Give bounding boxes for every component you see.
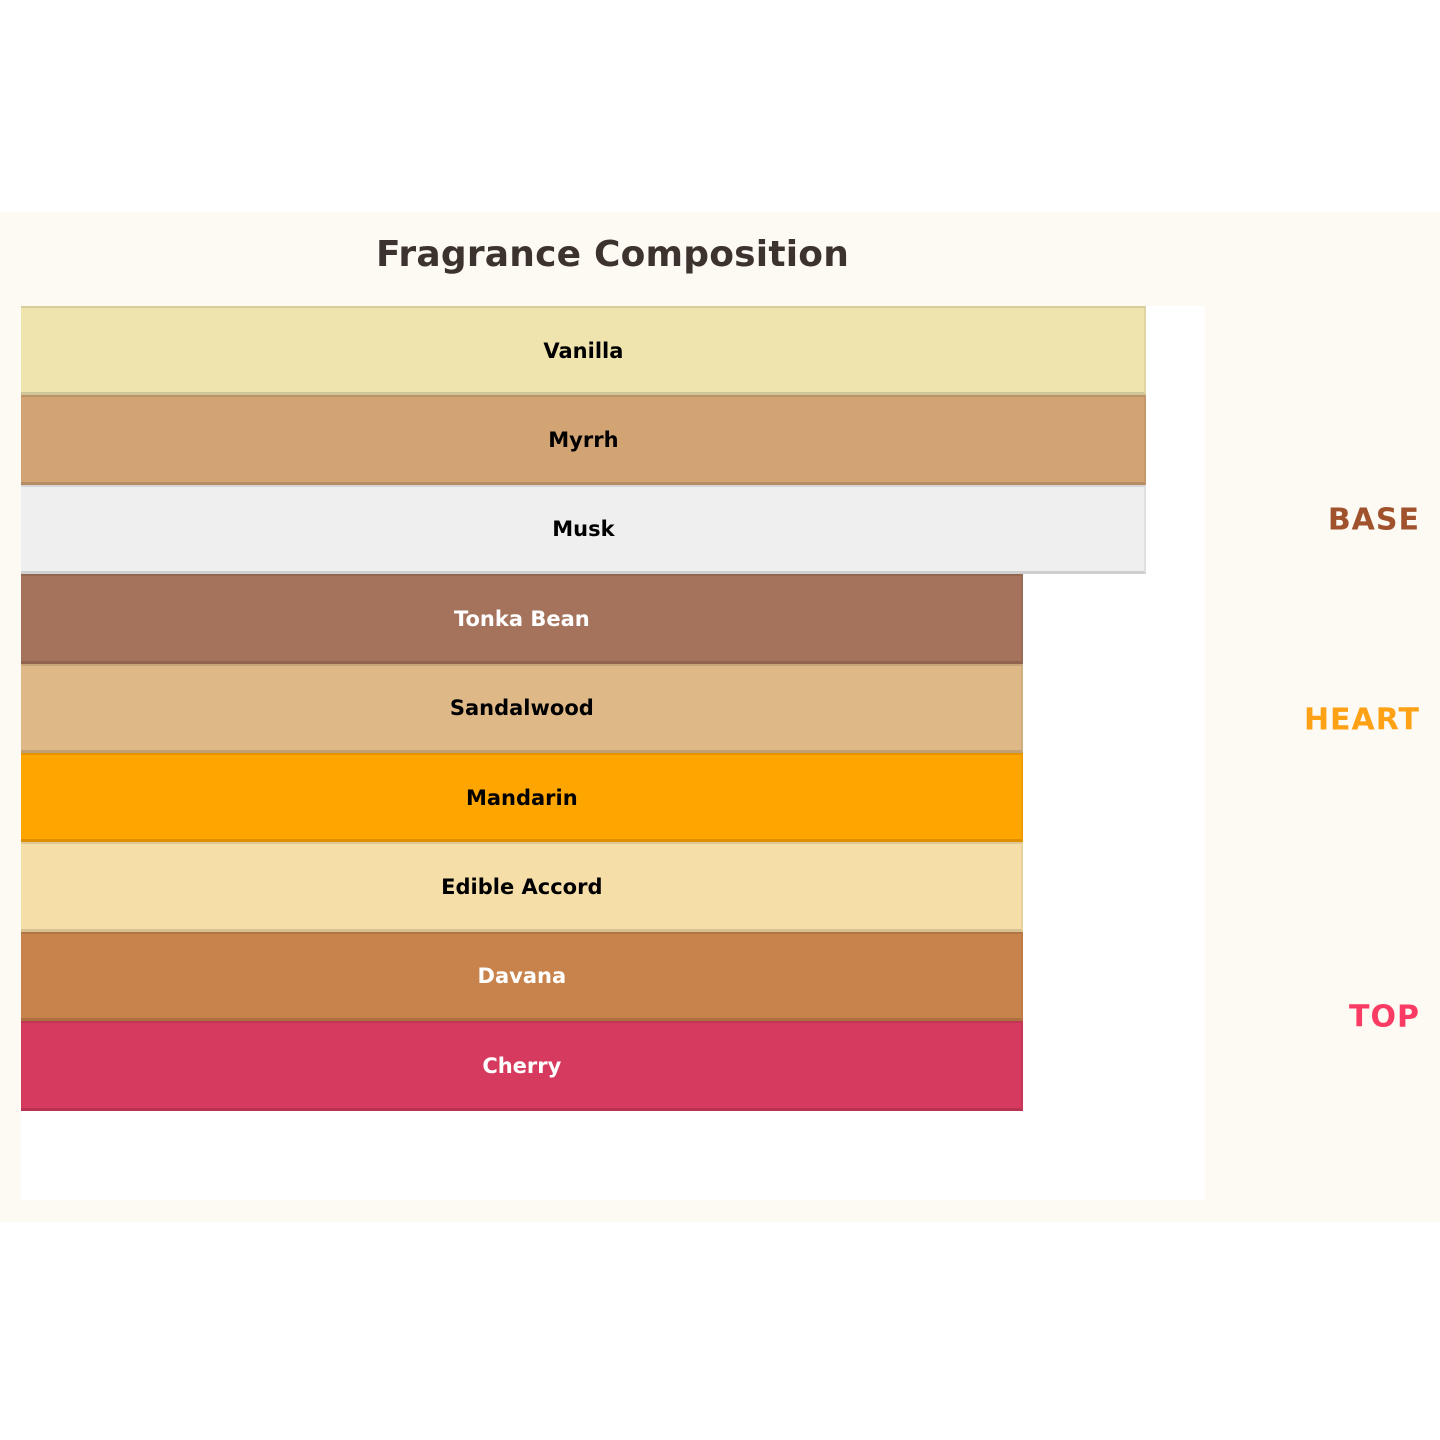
stage-label-top: TOP bbox=[1349, 1000, 1420, 1035]
bar[interactable] bbox=[21, 842, 1023, 931]
bar-row: Tonka Bean bbox=[21, 574, 1205, 663]
bar-row: Myrrh bbox=[21, 395, 1205, 484]
page-title: Fragrance Composition bbox=[0, 234, 1225, 275]
bar[interactable] bbox=[21, 664, 1023, 753]
stage-annotation-group: BASEHEARTTOP bbox=[1205, 212, 1440, 1222]
bar[interactable] bbox=[21, 1021, 1023, 1110]
stage-label-base: BASE bbox=[1328, 503, 1420, 538]
bar[interactable] bbox=[21, 932, 1023, 1021]
bar[interactable] bbox=[21, 574, 1023, 663]
bar-row: Davana bbox=[21, 932, 1205, 1021]
bar-row: Edible Accord bbox=[21, 842, 1205, 931]
bar[interactable] bbox=[21, 395, 1146, 484]
bar-row: Mandarin bbox=[21, 753, 1205, 842]
bar[interactable] bbox=[21, 485, 1146, 574]
plot-area: VanillaMyrrhMuskTonka BeanSandalwoodMand… bbox=[21, 306, 1205, 1200]
stage-label-heart: HEART bbox=[1304, 703, 1420, 738]
bar-row: Cherry bbox=[21, 1021, 1205, 1110]
bar-series: VanillaMyrrhMuskTonka BeanSandalwoodMand… bbox=[21, 306, 1205, 1200]
bar[interactable] bbox=[21, 753, 1023, 842]
bar[interactable] bbox=[21, 306, 1146, 395]
bar-row: Sandalwood bbox=[21, 664, 1205, 753]
bar-row: Vanilla bbox=[21, 306, 1205, 395]
fragrance-composition-figure: Fragrance Composition VanillaMyrrhMuskTo… bbox=[0, 212, 1440, 1222]
bar-row: Musk bbox=[21, 485, 1205, 574]
